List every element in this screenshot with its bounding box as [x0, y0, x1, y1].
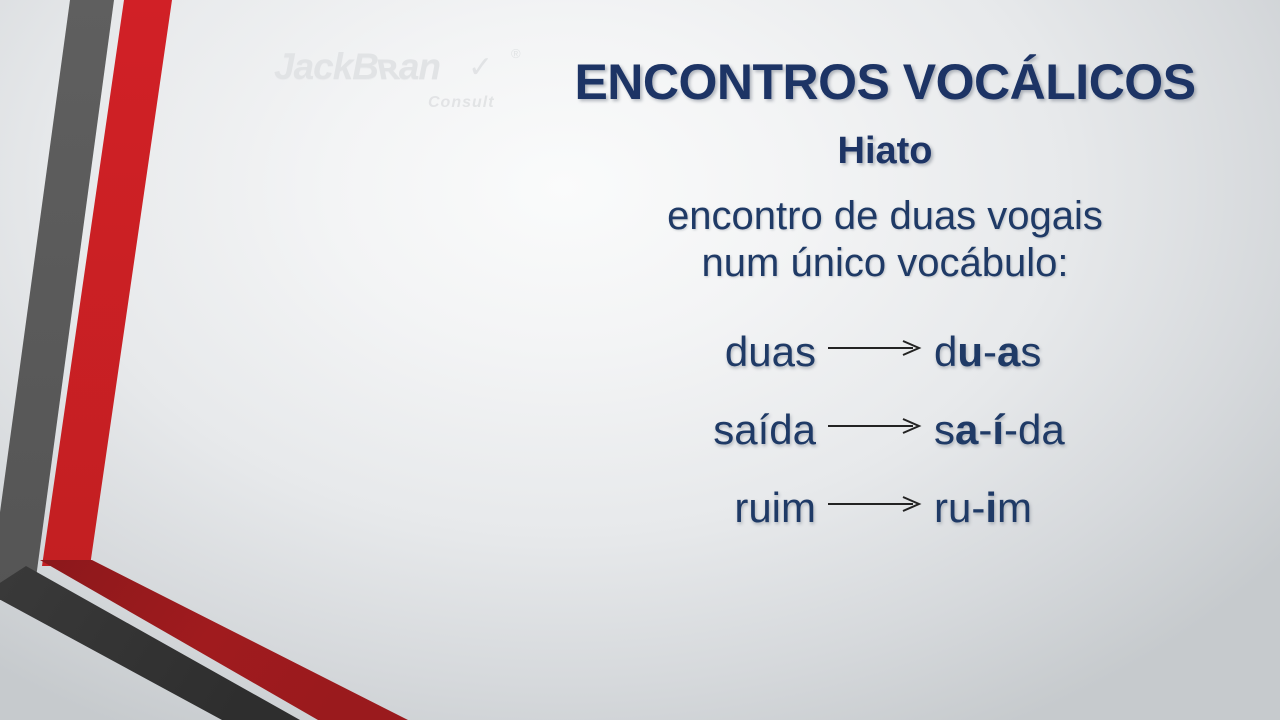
syllable-vowel-1: u: [957, 328, 983, 375]
slide-canvas: JackBяan ✓ ® Consult ENCONTROS VOCÁLICOS…: [0, 0, 1280, 720]
example-word: saída: [666, 406, 816, 454]
example-syllables: du-as: [934, 328, 1104, 376]
syllable-suffix: s: [1020, 328, 1041, 375]
syllable-suffix: m: [997, 484, 1032, 531]
syllable-prefix: d: [934, 328, 957, 375]
syllable-separator: -: [983, 328, 997, 375]
watermark-brand-reversed-r: я: [378, 46, 399, 88]
example-row: ruim ru-im: [520, 469, 1250, 547]
example-row: saída sa-í-da: [520, 391, 1250, 469]
watermark-subtitle: Consult: [428, 94, 495, 112]
slide-title: ENCONTROS VOCÁLICOS: [520, 56, 1250, 108]
slide-content: ENCONTROS VOCÁLICOS Hiato encontro de du…: [520, 56, 1250, 547]
example-word: duas: [666, 328, 816, 376]
syllable-vowel-2: i: [985, 484, 997, 531]
definition-line-2: num único vocábulo:: [520, 240, 1250, 287]
slide-subtitle: Hiato: [520, 130, 1250, 173]
syllable-vowel-1: a: [955, 406, 978, 453]
examples-list: duas du-as saída sa-í-da: [520, 313, 1250, 547]
watermark-check-icon: ✓: [468, 50, 493, 85]
long-right-arrow-icon: [816, 340, 934, 356]
long-right-arrow-icon: [816, 418, 934, 434]
watermark-brand-jack: JackB: [274, 46, 378, 87]
long-right-arrow-icon: [816, 496, 934, 512]
syllable-prefix: s: [934, 406, 955, 453]
syllable-separator: -: [978, 406, 992, 453]
stripe-gray-upper: [0, 0, 114, 600]
syllable-suffix: -da: [1004, 406, 1065, 453]
stripe-red-upper: [42, 0, 172, 566]
syllable-vowel-2: a: [997, 328, 1020, 375]
stripe-red-lower: [40, 560, 408, 720]
example-row: duas du-as: [520, 313, 1250, 391]
watermark-brand-tail: an: [399, 46, 440, 87]
syllable-vowel-2: í: [992, 406, 1004, 453]
stripe-gray-lower: [0, 566, 300, 720]
definition-text: encontro de duas vogais num único vocábu…: [520, 193, 1250, 287]
watermark-jackbran-consult: JackBяan ✓ ® Consult: [268, 44, 528, 120]
example-syllables: ru-im: [934, 484, 1104, 532]
example-word: ruim: [666, 484, 816, 532]
example-syllables: sa-í-da: [934, 406, 1104, 454]
definition-line-1: encontro de duas vogais: [520, 193, 1250, 240]
syllable-prefix: ru-: [934, 484, 985, 531]
watermark-brand-text: JackBяan: [274, 46, 440, 88]
